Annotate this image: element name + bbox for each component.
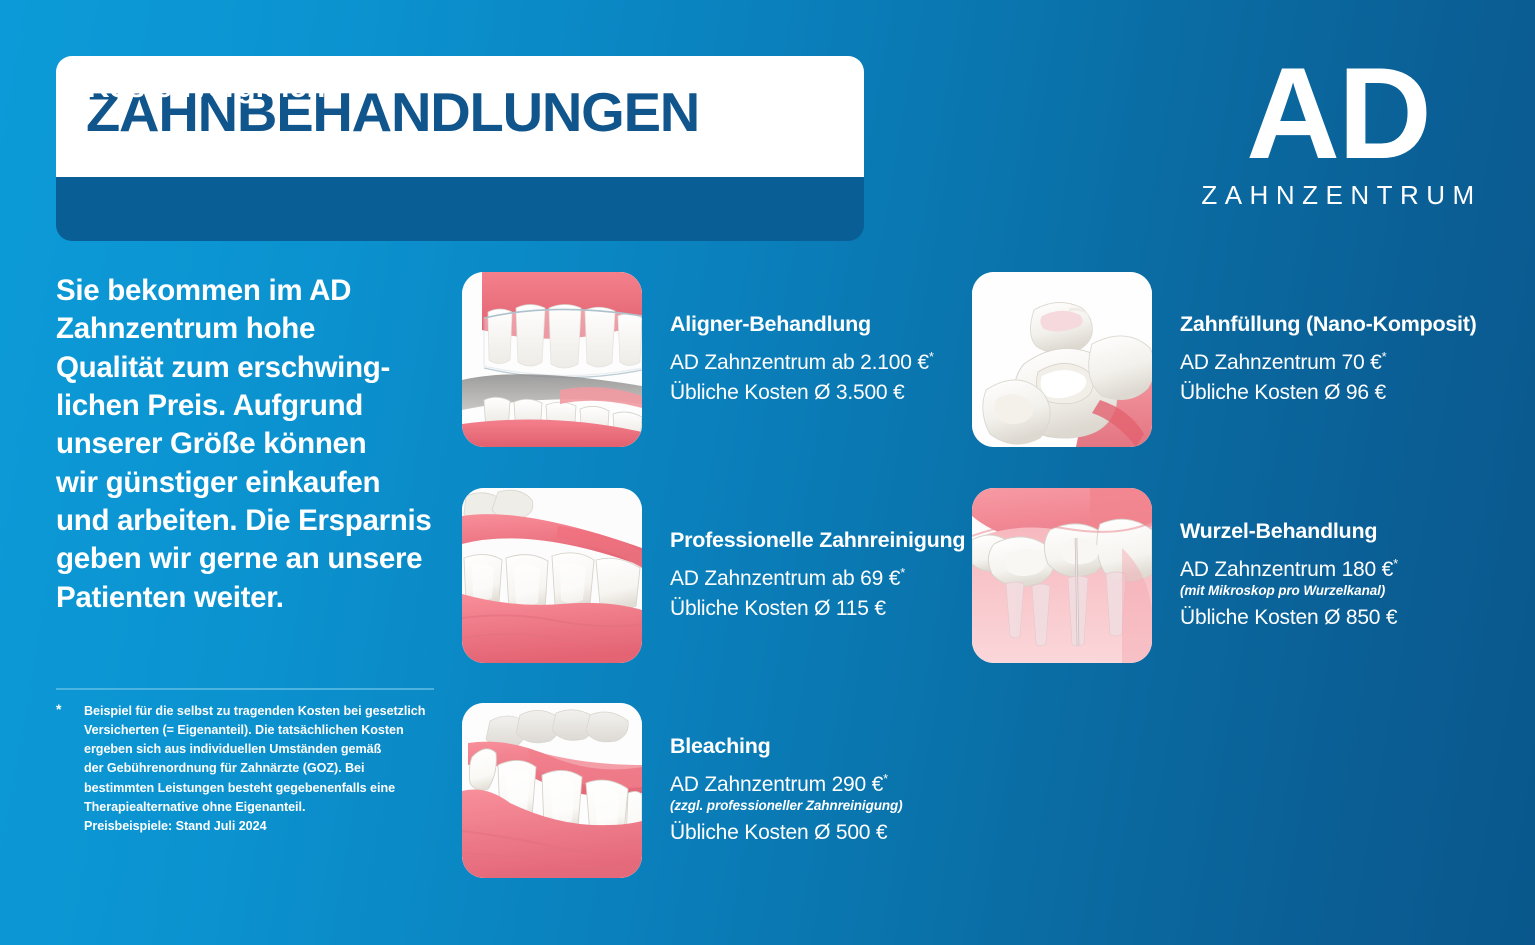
service-usual-price: Übliche Kosten Ø 115 € [670, 594, 965, 624]
service-own-price-value: AD Zahnzentrum ab 69 € [670, 567, 900, 590]
service-price-asterisk: * [1393, 556, 1398, 571]
service-price-note: (zzgl. professioneller Zahnreinigung) [670, 798, 903, 814]
logo-wordmark: ZAHNZENTRUM [1193, 180, 1483, 211]
clean-teeth-gums-photo [462, 488, 642, 663]
service-item-zahnfuellung: Zahnfüllung (Nano-Komposit) AD Zahnzentr… [972, 272, 1477, 447]
service-title: Bleaching [670, 734, 903, 759]
page-subtitle: Kostenvergleich [87, 69, 325, 105]
footnote-text: Beispiel für die selbst zu tragenden Kos… [84, 702, 434, 836]
service-usual-price: Übliche Kosten Ø 96 € [1180, 378, 1477, 408]
service-price-asterisk: * [929, 349, 934, 364]
service-title: Aligner-Behandlung [670, 312, 934, 337]
intro-paragraph: Sie bekommen im AD Zahnzentrum hohe Qual… [56, 272, 446, 617]
service-own-price-value: AD Zahnzentrum ab 2.100 € [670, 351, 929, 374]
footnote-marker: * [56, 702, 84, 836]
service-title: Wurzel-Behandlung [1180, 519, 1398, 544]
service-own-price: AD Zahnzentrum 290 €* [670, 770, 903, 800]
service-item-wurzelbehandlung: Wurzel-Behandlung AD Zahnzentrum 180 €* … [972, 488, 1398, 663]
service-own-price: AD Zahnzentrum 70 €* [1180, 348, 1477, 378]
service-price-asterisk: * [883, 771, 888, 786]
service-item-aligner: Aligner-Behandlung AD Zahnzentrum ab 2.1… [462, 272, 934, 447]
service-own-price-value: AD Zahnzentrum 290 € [670, 773, 883, 796]
white-teeth-lower-jaw-photo [462, 703, 642, 878]
service-own-price: AD Zahnzentrum ab 69 €* [670, 564, 965, 594]
service-text-bleaching: Bleaching AD Zahnzentrum 290 €* (zzgl. p… [670, 734, 903, 848]
service-price-note: (mit Mikroskop pro Wurzelkanal) [1180, 583, 1398, 599]
service-title: Professionelle Zahnreinigung [670, 528, 965, 553]
service-text-zahnfuellung: Zahnfüllung (Nano-Komposit) AD Zahnzentr… [1180, 312, 1477, 408]
service-text-zahnreinigung: Professionelle Zahnreinigung AD Zahnzent… [670, 528, 965, 624]
aligner-on-teeth-photo [462, 272, 642, 447]
service-usual-price: Übliche Kosten Ø 850 € [1180, 603, 1398, 633]
service-own-price-value: AD Zahnzentrum 180 € [1180, 558, 1393, 581]
service-usual-price: Übliche Kosten Ø 3.500 € [670, 378, 934, 408]
service-text-wurzelbehandlung: Wurzel-Behandlung AD Zahnzentrum 180 €* … [1180, 519, 1398, 633]
service-own-price-value: AD Zahnzentrum 70 € [1180, 351, 1382, 374]
header-banner: ZAHNBEHANDLUNGEN Kostenvergleich [56, 56, 864, 241]
service-price-asterisk: * [1382, 349, 1387, 364]
tooth-inlay-filling-photo [972, 272, 1152, 447]
service-text-aligner: Aligner-Behandlung AD Zahnzentrum ab 2.1… [670, 312, 934, 408]
service-title: Zahnfüllung (Nano-Komposit) [1180, 312, 1477, 337]
service-own-price: AD Zahnzentrum ab 2.100 €* [670, 348, 934, 378]
service-usual-price: Übliche Kosten Ø 500 € [670, 818, 903, 848]
service-own-price: AD Zahnzentrum 180 €* [1180, 555, 1398, 585]
service-price-asterisk: * [900, 565, 905, 580]
footnote-block: * Beispiel für die selbst zu tragenden K… [56, 688, 434, 836]
service-item-bleaching: Bleaching AD Zahnzentrum 290 €* (zzgl. p… [462, 703, 903, 878]
logo-mark: AD [1193, 52, 1483, 176]
subtitle-bar [56, 177, 864, 241]
logo: AD ZAHNZENTRUM [1193, 52, 1483, 211]
footnote-divider [56, 688, 434, 690]
service-item-zahnreinigung: Professionelle Zahnreinigung AD Zahnzent… [462, 488, 965, 663]
tooth-roots-translucent-gums-photo [972, 488, 1152, 663]
